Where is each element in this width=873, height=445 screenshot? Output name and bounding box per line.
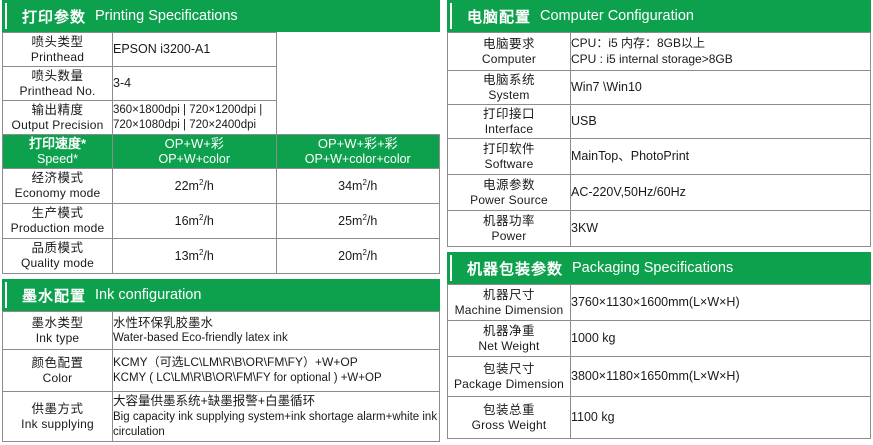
row-value-color: KCMY（可选LC\LM\R\B\OR\FM\FY）+W+OP KCMY ( L…: [113, 350, 440, 392]
label-en: Printhead: [3, 50, 112, 65]
section-header-printing-cn: 打印参数: [22, 6, 86, 27]
section-header-computer-en: Computer Configuration: [540, 8, 694, 24]
economy-speed-col2: 34m2/h: [276, 169, 440, 204]
label-cn: 经济模式: [3, 171, 112, 186]
table-row: 供墨方式 Ink supplying 大容量供墨系统+缺墨报警+白墨循环 Big…: [3, 392, 440, 442]
table-row: 打印接口 Interface USB: [448, 105, 871, 139]
row-value-machine-dimension: 3760×1130×1600mm(L×W×H): [571, 285, 871, 321]
row-label-software: 打印软件 Software: [448, 139, 571, 175]
label-cn: 喷头类型: [3, 35, 112, 50]
label-en: Machine Dimension: [448, 303, 570, 318]
label-en: Color: [3, 371, 112, 386]
row-label-machine-dimension: 机器尺寸 Machine Dimension: [448, 285, 571, 321]
table-row: 墨水类型 Ink type 水性环保乳胶墨水 Water-based Eco-f…: [3, 312, 440, 350]
label-cn: 电脑要求: [448, 37, 570, 52]
row-label-net-weight: 机器净重 Net Weight: [448, 321, 571, 357]
row-value-gross-weight: 1100 kg: [571, 397, 871, 439]
section-header-ink-cn: 墨水配置: [22, 285, 86, 306]
label-en: Quality mode: [3, 256, 112, 271]
table-row: 机器功率 Power 3KW: [448, 211, 871, 247]
table-row: 机器净重 Net Weight 1000 kg: [448, 321, 871, 357]
label-cn: 机器净重: [448, 324, 570, 339]
row-label-color: 颜色配置 Color: [3, 350, 113, 392]
row-label-interface: 打印接口 Interface: [448, 105, 571, 139]
section-header-ink-en: Ink configuration: [95, 287, 201, 303]
label-cn: 包装总重: [448, 403, 570, 418]
label-en: Interface: [448, 122, 570, 137]
row-value-printhead-no: 3-4: [113, 67, 277, 101]
row-value-power: 3KW: [571, 211, 871, 247]
right-column: 电脑配置 Computer Configuration 电脑要求 Compute…: [447, 0, 871, 439]
spec-sheet: 打印参数 Printing Specifications 喷头类型 Printh…: [0, 0, 873, 445]
row-label-system: 电脑系统 System: [448, 71, 571, 105]
row-value-system: Win7 \Win10: [571, 71, 871, 105]
label-cn: 包装尺寸: [448, 362, 570, 377]
economy-speed-col1: 22m2/h: [113, 169, 277, 204]
speed-header-row: 打印速度* Speed* OP+W+彩 OP+W+color OP+W+彩+彩 …: [3, 135, 440, 169]
table-row: 包装总重 Gross Weight 1100 kg: [448, 397, 871, 439]
table-row: 品质模式 Quality mode 13m2/h 20m2/h: [3, 239, 440, 274]
label-en: System: [448, 88, 570, 103]
table-row: 输出精度 Output Precision 360×1800dpi | 720×…: [3, 101, 440, 135]
label-cn: 品质模式: [3, 241, 112, 256]
row-label-production-mode: 生产模式 Production mode: [3, 204, 113, 239]
label-en: Output Precision: [3, 118, 112, 133]
speed-label-cell: 打印速度* Speed*: [3, 135, 113, 169]
table-row: 经济模式 Economy mode 22m2/h 34m2/h: [3, 169, 440, 204]
left-column: 打印参数 Printing Specifications 喷头类型 Printh…: [2, 0, 440, 442]
quality-speed-col1: 13m2/h: [113, 239, 277, 274]
row-value-computer: CPU：i5 内存：8GB以上 CPU : i5 internal storag…: [571, 33, 871, 71]
row-label-package-dimension: 包装尺寸 Package Dimension: [448, 357, 571, 397]
table-row: 颜色配置 Color KCMY（可选LC\LM\R\B\OR\FM\FY）+W+…: [3, 350, 440, 392]
row-label-ink-supplying: 供墨方式 Ink supplying: [3, 392, 113, 442]
section-header-printing: 打印参数 Printing Specifications: [2, 0, 440, 32]
label-en: Power: [448, 229, 570, 244]
row-label-output-precision: 输出精度 Output Precision: [3, 101, 113, 135]
label-en: Gross Weight: [448, 418, 570, 433]
section-header-packaging-en: Packaging Specifications: [572, 260, 733, 276]
table-row: 机器尺寸 Machine Dimension 3760×1130×1600mm(…: [448, 285, 871, 321]
label-cn: 打印接口: [448, 107, 570, 122]
label-en: Net Weight: [448, 339, 570, 354]
row-label-printhead-no: 喷头数量 Printhead No.: [3, 67, 113, 101]
label-en: Ink type: [3, 331, 112, 346]
row-label-power: 机器功率 Power: [448, 211, 571, 247]
row-value-ink-type: 水性环保乳胶墨水 Water-based Eco-friendly latex …: [113, 312, 440, 350]
section-header-computer: 电脑配置 Computer Configuration: [447, 0, 871, 32]
table-row: 电源参数 Power Source AC-220V,50Hz/60Hz: [448, 175, 871, 211]
row-label-computer: 电脑要求 Computer: [448, 33, 571, 71]
label-cn: 供墨方式: [3, 402, 112, 417]
row-value-power-source: AC-220V,50Hz/60Hz: [571, 175, 871, 211]
label-cn: 颜色配置: [3, 356, 112, 371]
row-label-printhead: 喷头类型 Printhead: [3, 33, 113, 67]
section-header-packaging-cn: 机器包装参数: [467, 258, 563, 279]
row-value-net-weight: 1000 kg: [571, 321, 871, 357]
row-label-quality-mode: 品质模式 Quality mode: [3, 239, 113, 274]
ink-table: 墨水类型 Ink type 水性环保乳胶墨水 Water-based Eco-f…: [2, 311, 440, 442]
speed-column-2-header: OP+W+彩+彩 OP+W+color+color: [276, 135, 440, 169]
row-label-ink-type: 墨水类型 Ink type: [3, 312, 113, 350]
table-row: 喷头类型 Printhead EPSON i3200-A1: [3, 33, 440, 67]
label-cn: 机器尺寸: [448, 288, 570, 303]
label-en: Production mode: [3, 221, 112, 236]
label-cn: 机器功率: [448, 214, 570, 229]
label-cn: 电源参数: [448, 178, 570, 193]
label-en: Printhead No.: [3, 84, 112, 99]
speed-column-1-header: OP+W+彩 OP+W+color: [113, 135, 277, 169]
table-row: 生产模式 Production mode 16m2/h 25m2/h: [3, 204, 440, 239]
label-cn: 喷头数量: [3, 69, 112, 84]
row-value-interface: USB: [571, 105, 871, 139]
table-row: 包装尺寸 Package Dimension 3800×1180×1650mm(…: [448, 357, 871, 397]
section-header-ink: 墨水配置 Ink configuration: [2, 279, 440, 311]
row-value-ink-supplying: 大容量供墨系统+缺墨报警+白墨循环 Big capacity ink suppl…: [113, 392, 440, 442]
label-en: Software: [448, 157, 570, 172]
row-label-power-source: 电源参数 Power Source: [448, 175, 571, 211]
table-row: 电脑要求 Computer CPU：i5 内存：8GB以上 CPU : i5 i…: [448, 33, 871, 71]
label-en: Computer: [448, 52, 570, 67]
row-value-software: MainTop、PhotoPrint: [571, 139, 871, 175]
production-speed-col2: 25m2/h: [276, 204, 440, 239]
row-label-economy-mode: 经济模式 Economy mode: [3, 169, 113, 204]
row-value-output-precision: 360×1800dpi | 720×1200dpi | 720×1080dpi …: [113, 101, 277, 135]
label-en: Power Source: [448, 193, 570, 208]
label-en: Economy mode: [3, 186, 112, 201]
label-en: Ink supplying: [3, 417, 112, 432]
row-value-printhead: EPSON i3200-A1: [113, 33, 277, 67]
label-cn: 生产模式: [3, 206, 112, 221]
section-header-printing-en: Printing Specifications: [95, 8, 238, 24]
production-speed-col1: 16m2/h: [113, 204, 277, 239]
table-row: 打印软件 Software MainTop、PhotoPrint: [448, 139, 871, 175]
label-cn: 打印软件: [448, 142, 570, 157]
label-cn: 输出精度: [3, 103, 112, 118]
row-value-package-dimension: 3800×1180×1650mm(L×W×H): [571, 357, 871, 397]
table-row: 喷头数量 Printhead No. 3-4: [3, 67, 440, 101]
printing-table: 喷头类型 Printhead EPSON i3200-A1 喷头数量 Print…: [2, 32, 440, 274]
computer-table: 电脑要求 Computer CPU：i5 内存：8GB以上 CPU : i5 i…: [447, 32, 871, 247]
section-header-computer-cn: 电脑配置: [467, 6, 531, 27]
row-label-gross-weight: 包装总重 Gross Weight: [448, 397, 571, 439]
label-cn: 墨水类型: [3, 316, 112, 331]
quality-speed-col2: 20m2/h: [276, 239, 440, 274]
table-row: 电脑系统 System Win7 \Win10: [448, 71, 871, 105]
label-cn: 电脑系统: [448, 73, 570, 88]
label-en: Package Dimension: [448, 377, 570, 392]
section-header-packaging: 机器包装参数 Packaging Specifications: [447, 252, 871, 284]
packaging-table: 机器尺寸 Machine Dimension 3760×1130×1600mm(…: [447, 284, 871, 439]
